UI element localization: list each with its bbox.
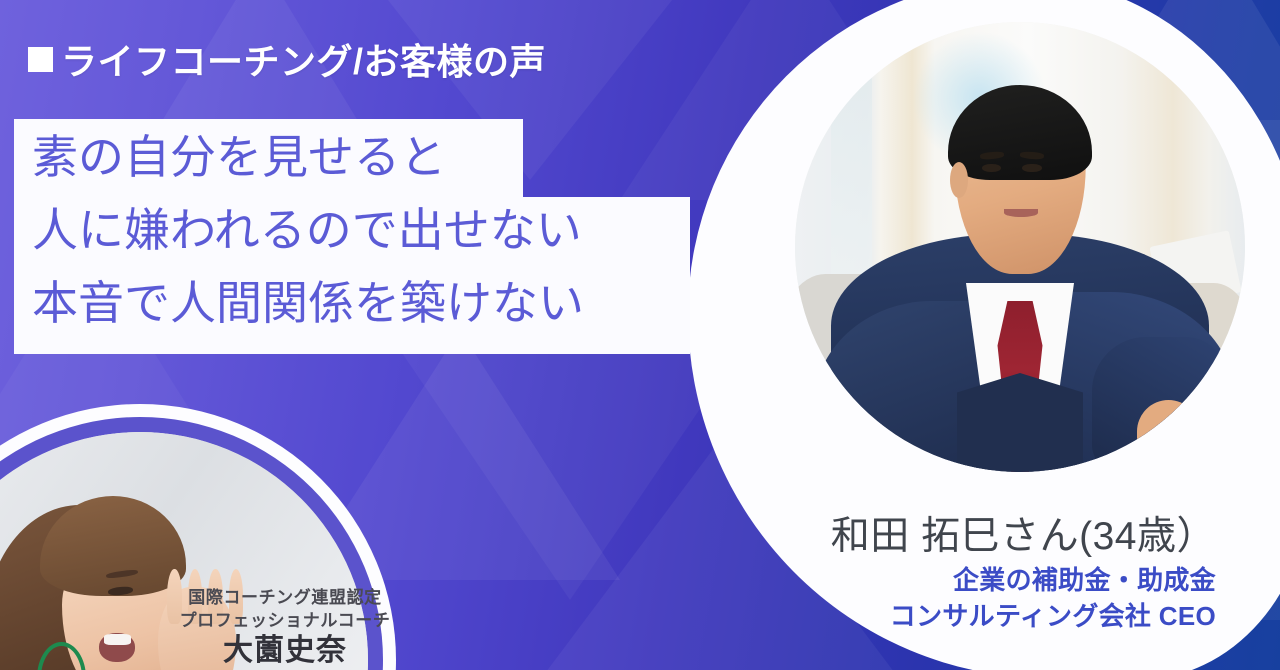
category-header-label: ライフコーチング/お客様の声	[61, 33, 546, 85]
portrait-ear	[950, 162, 968, 198]
headline-line-2: 人に嫌われるので出せない	[32, 194, 584, 267]
client-portrait-photo	[795, 22, 1245, 472]
portrait-mouth	[1004, 209, 1038, 217]
coach-teeth	[104, 634, 131, 644]
filled-square-icon	[28, 47, 53, 72]
coach-organization: 国際コーチング連盟認定	[160, 586, 410, 609]
coach-credentials: 国際コーチング連盟認定 プロフェッショナルコーチ 大薗史奈	[160, 586, 410, 669]
portrait-eye-right	[1022, 164, 1041, 173]
category-header: ライフコーチング/お客様の声	[28, 33, 546, 85]
coach-name: 大薗史奈	[160, 633, 410, 669]
headline-text: 素の自分を見せると 人に嫌われるので出せない 本音で人間関係を築けない	[32, 121, 584, 340]
client-role-line-2: コンサルティング会社 CEO	[831, 598, 1216, 634]
headline-line-1: 素の自分を見せると	[32, 121, 584, 194]
portrait-window	[831, 22, 872, 301]
portrait-hand	[1137, 400, 1200, 463]
testimonial-banner: ライフコーチング/お客様の声 素の自分を見せると 人に嫌われるので出せない 本音…	[0, 0, 1280, 670]
headline-panel: 素の自分を見せると 人に嫌われるので出せない 本音で人間関係を築けない	[14, 119, 690, 354]
portrait-vest	[957, 373, 1083, 472]
client-name: 和田 拓巳さん(34歳）	[831, 512, 1216, 562]
headline-line-3: 本音で人間関係を築けない	[32, 267, 584, 340]
client-caption: 和田 拓巳さん(34歳） 企業の補助金・助成金 コンサルティング会社 CEO	[831, 512, 1216, 634]
coach-certification: プロフェッショナルコーチ	[160, 609, 410, 632]
client-role-line-1: 企業の補助金・助成金	[831, 562, 1216, 598]
